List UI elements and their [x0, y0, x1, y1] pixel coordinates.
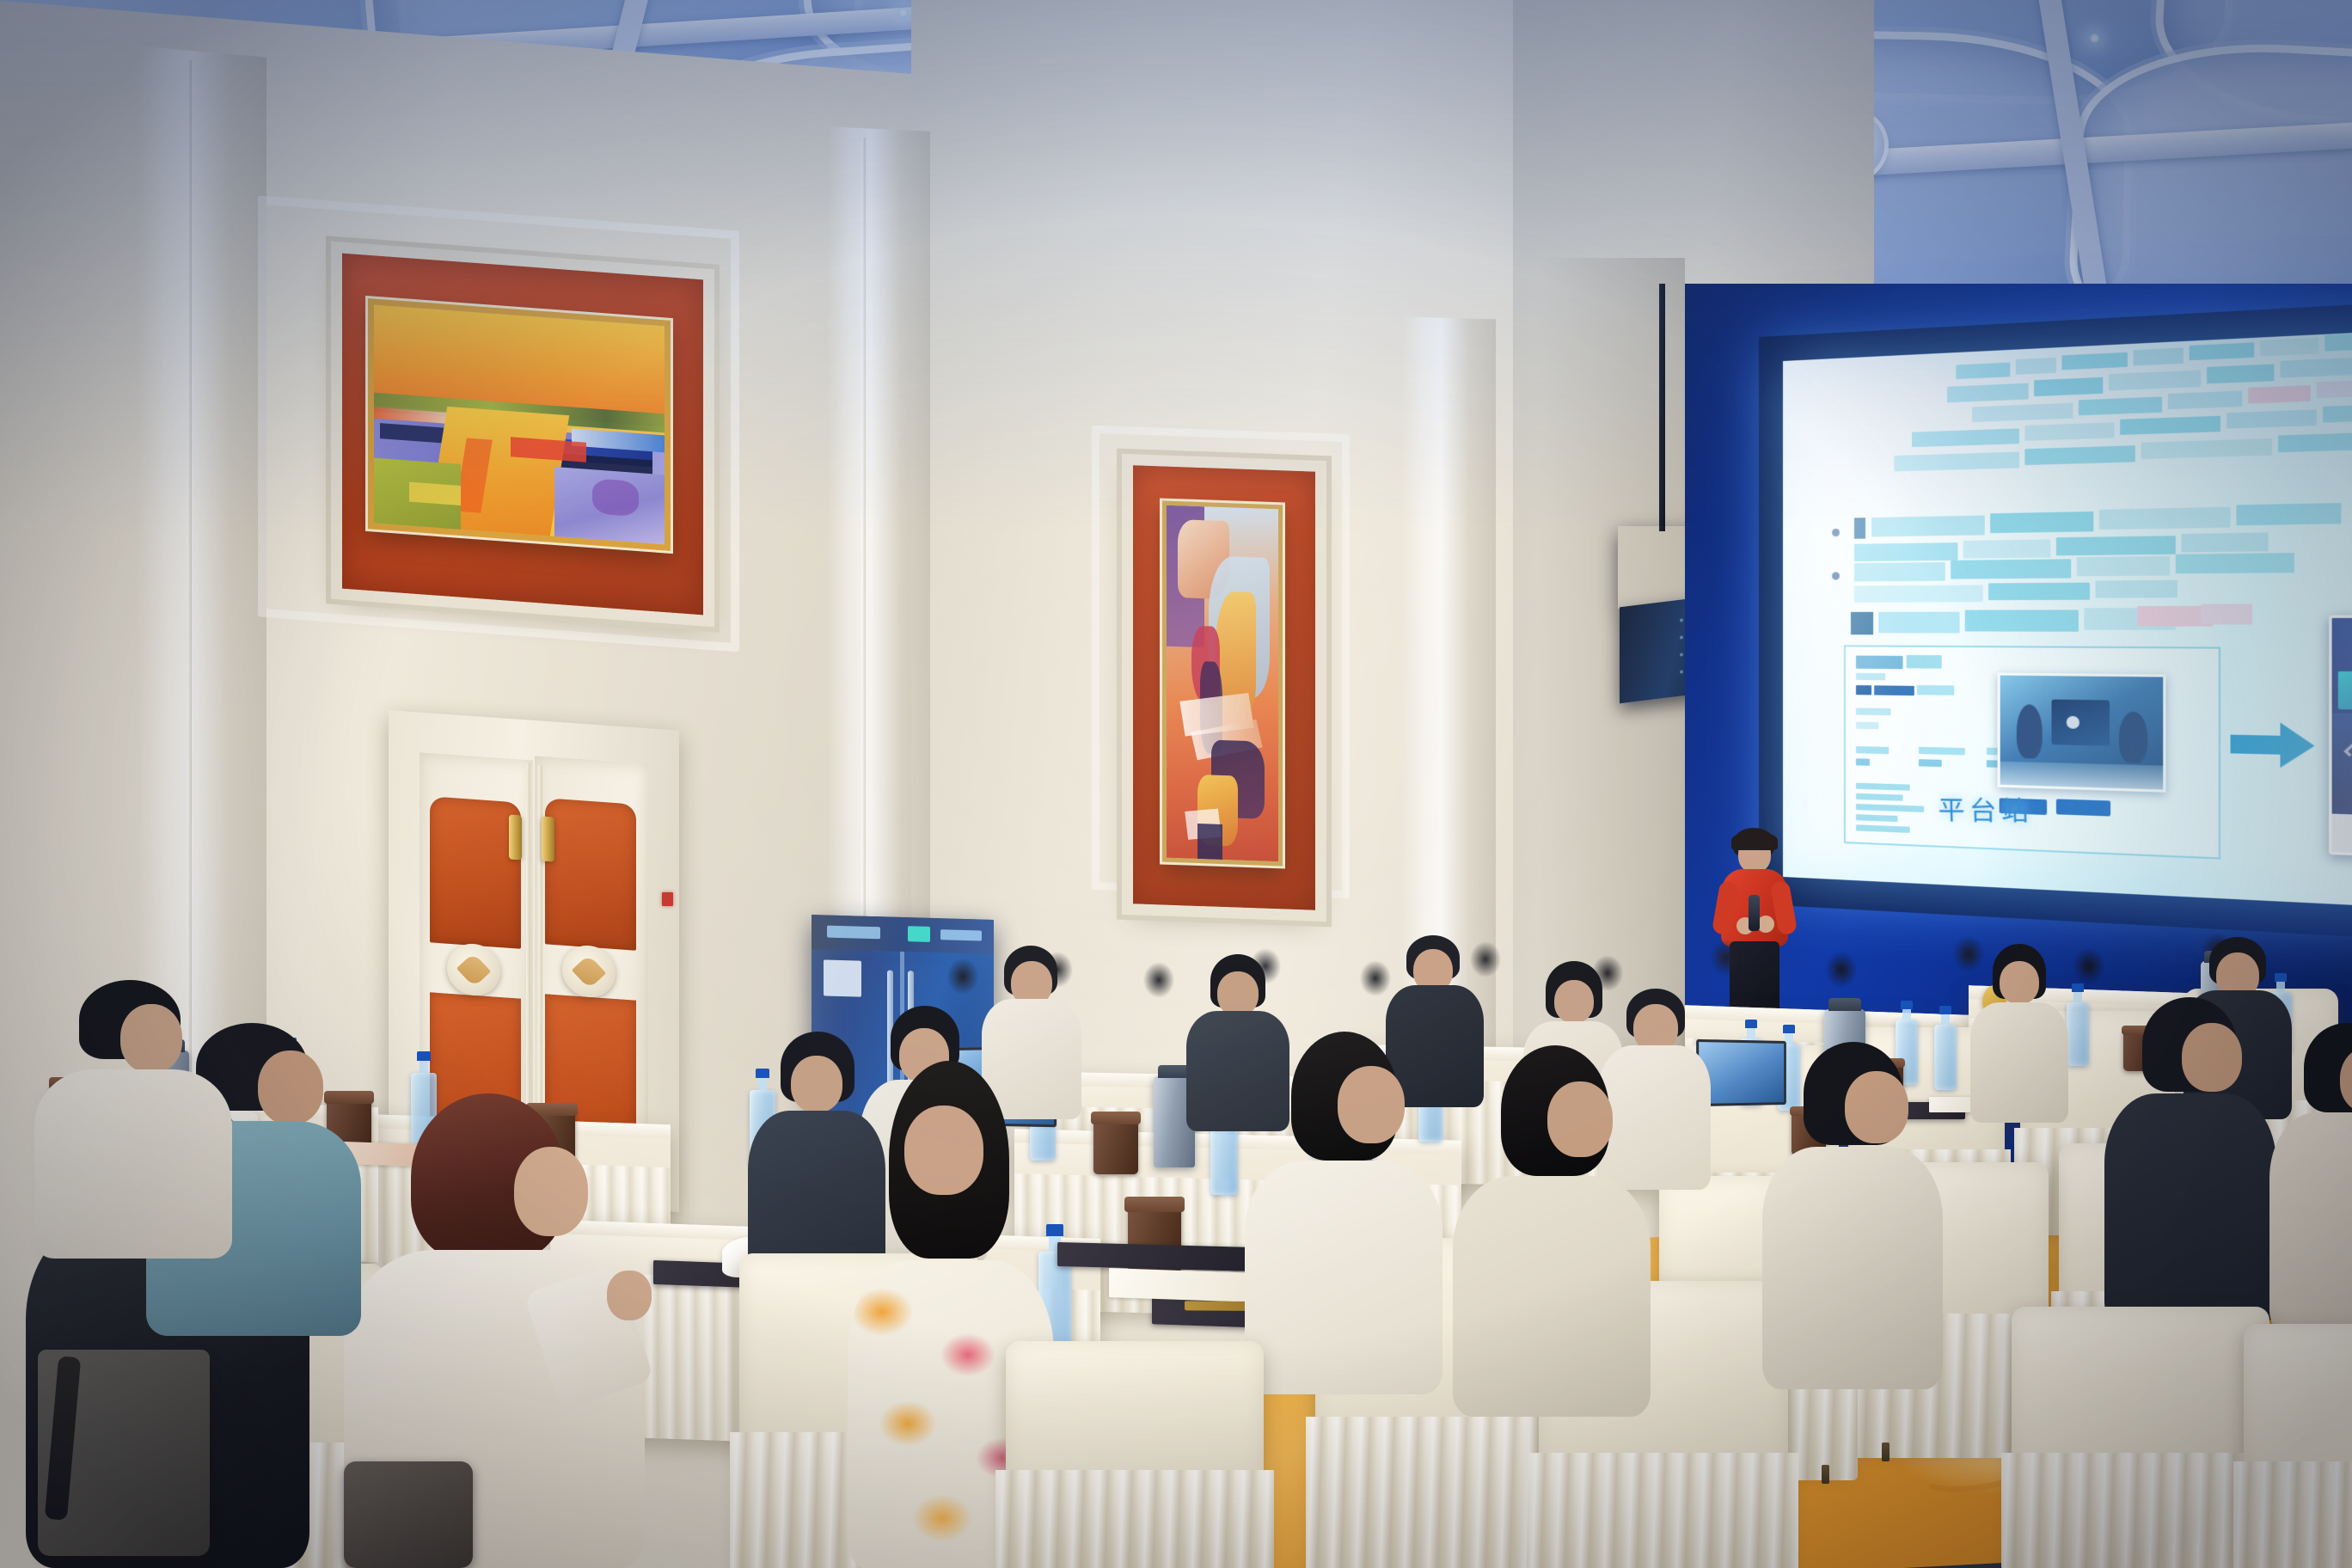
door-handle-left[interactable]	[509, 814, 522, 860]
cooler-brand-badge	[827, 926, 880, 940]
attendee	[2269, 1023, 2352, 1332]
handbag	[344, 1461, 473, 1568]
document-folder	[1057, 1242, 1255, 1271]
slide-card-button	[2056, 799, 2110, 816]
attendee	[1969, 944, 2072, 1116]
slide-thumbnail-image	[1998, 672, 2166, 792]
slide-flow-arrow	[2231, 720, 2315, 775]
tea-cup-with-lid	[1093, 1118, 1138, 1174]
slide-phone-mockup	[2329, 615, 2352, 860]
projection-screen: 平台站	[1783, 330, 2352, 908]
slide-caption-text: 平台站	[1938, 788, 2034, 829]
notepad-paper	[1109, 1268, 1255, 1302]
door-handle-right[interactable]	[542, 816, 554, 861]
cooler-sticker	[824, 959, 861, 996]
attendee	[1762, 1042, 1943, 1386]
banquet-chair[interactable]	[1006, 1341, 1264, 1568]
banquet-chair[interactable]	[2244, 1324, 2352, 1568]
attendee	[2104, 997, 2276, 1324]
slide-content: 平台站	[1783, 330, 2352, 908]
abstract-figure-painting	[1162, 501, 1283, 867]
door-inlay	[430, 796, 521, 948]
attendee	[1245, 1032, 1442, 1393]
cooler-status-light	[908, 926, 930, 942]
attendee	[1453, 1045, 1651, 1415]
fire-alarm-plate	[662, 892, 673, 906]
conference-hall-photo: 平台站	[0, 0, 2352, 1568]
abstract-landscape-painting	[368, 298, 671, 551]
banquet-chair[interactable]	[2012, 1307, 2269, 1568]
door-inlay	[545, 798, 636, 950]
speaker-mount-pole	[1659, 284, 1665, 531]
attendee	[34, 980, 232, 1255]
